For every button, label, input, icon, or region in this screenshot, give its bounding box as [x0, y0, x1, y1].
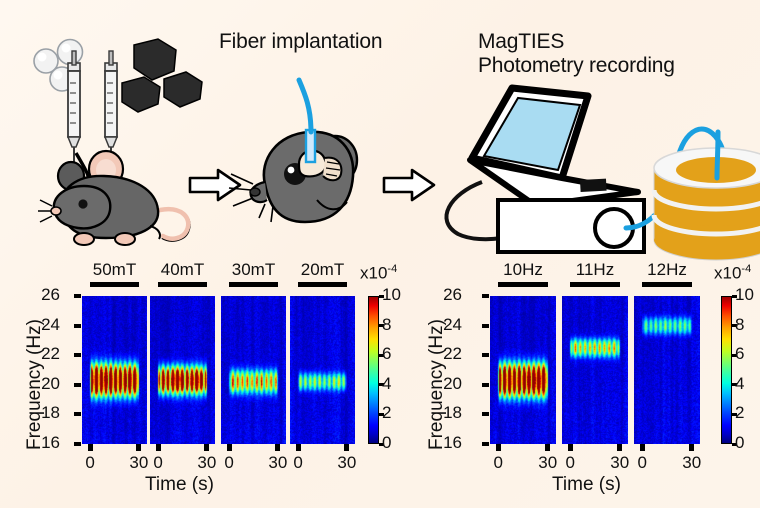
subpanel-condition-label: 50mT [82, 260, 147, 280]
ferrule-icon [306, 130, 315, 162]
x-tick-label: 0 [556, 453, 584, 473]
y-tick-mark [482, 442, 489, 446]
x-tick-mark [136, 444, 141, 451]
x-tick-mark [640, 444, 645, 451]
frequency-spectrogram-panel: Frequency (Hz) Time (s) x10-4 1618202224… [400, 260, 760, 508]
y-tick-mark [74, 294, 81, 298]
x-tick-mark [545, 444, 550, 451]
y-tick-mark [74, 383, 81, 387]
optic-fiber-icon [717, 132, 718, 178]
colorbar [368, 296, 379, 444]
subpanel-condition-label: 20mT [290, 260, 355, 280]
colorbar-exponent-label: x10-4 [714, 263, 751, 284]
y-tick-label: 26 [436, 285, 462, 305]
spectrogram-heatmap [150, 296, 215, 444]
x-tick-label: 0 [144, 453, 172, 473]
stimulus-bar [298, 282, 347, 287]
schematic-title-fiber-implantation: Fiber implantation [219, 30, 382, 54]
laptop-icon [470, 88, 638, 206]
magnetic-coil-icon [654, 148, 760, 260]
x-tick-mark [568, 444, 573, 451]
colorbar-tick-label: 10 [735, 285, 754, 305]
stimulus-bar [158, 282, 207, 287]
x-tick-mark [344, 444, 349, 451]
x-tick-label: 0 [215, 453, 243, 473]
schematic-title-magties: MagTIES [478, 30, 564, 54]
y-tick-label: 22 [34, 344, 60, 364]
spectrogram-heatmap [290, 296, 355, 444]
x-tick-mark [496, 444, 501, 451]
x-tick-label: 30 [678, 453, 706, 473]
mouse-icon [42, 148, 202, 248]
y-tick-mark [482, 412, 489, 416]
colorbar-tick-label: 10 [382, 285, 401, 305]
subpanel-condition-label: 30mT [221, 260, 286, 280]
x-tick-label: 0 [484, 453, 512, 473]
colorbar-tick-label: 4 [382, 374, 391, 394]
colorbar-tick-label: 6 [382, 344, 391, 364]
recording-setup-graphic [440, 72, 750, 252]
y-tick-mark [482, 324, 489, 328]
subpanel-condition-label: 40mT [150, 260, 215, 280]
colorbar-tick-label: 0 [735, 433, 744, 453]
y-tick-label: 16 [34, 433, 60, 453]
spectrogram-heatmap [82, 296, 147, 444]
x-tick-mark [227, 444, 232, 451]
y-tick-label: 22 [436, 344, 462, 364]
x-tick-label: 30 [333, 453, 361, 473]
x-tick-mark [689, 444, 694, 451]
y-tick-mark [74, 324, 81, 328]
arrow-right-icon [382, 168, 438, 202]
y-tick-mark [74, 442, 81, 446]
colorbar-tick-label: 8 [735, 315, 744, 335]
y-tick-mark [482, 383, 489, 387]
colorbar-tick-label: 2 [382, 403, 391, 423]
y-tick-label: 26 [34, 285, 60, 305]
y-tick-label: 24 [34, 315, 60, 335]
x-tick-label: 0 [628, 453, 656, 473]
spectrogram-heatmap [490, 296, 556, 444]
stimulus-bar [229, 282, 278, 287]
colorbar-tick-label: 2 [735, 403, 744, 423]
subpanel-condition-label: 12Hz [634, 260, 700, 280]
y-tick-label: 18 [34, 403, 60, 423]
colorbar-tick-label: 6 [735, 344, 744, 364]
x-tick-label: 0 [284, 453, 312, 473]
driver-box-icon [498, 200, 644, 252]
x-tick-mark [88, 444, 93, 451]
stimulus-bar [498, 282, 548, 287]
colorbar-tick-label: 4 [735, 374, 744, 394]
stimulus-bar [642, 282, 692, 287]
y-tick-mark [74, 412, 81, 416]
stimulus-bar [90, 282, 139, 287]
optic-fiber-icon [299, 80, 311, 132]
subpanel-condition-label: 11Hz [562, 260, 628, 280]
y-tick-label: 20 [34, 374, 60, 394]
colorbar-tick-label: 8 [382, 315, 391, 335]
y-tick-mark [74, 353, 81, 357]
y-tick-label: 18 [436, 403, 462, 423]
x-axis-label: Time (s) [552, 474, 621, 496]
spectrogram-heatmap [562, 296, 628, 444]
colorbar-tick-label: 0 [382, 433, 391, 453]
arrow-right-icon [188, 168, 244, 202]
mouse-head-with-fiber-icon [243, 72, 371, 232]
spectrogram-heatmap [634, 296, 700, 444]
x-tick-mark [275, 444, 280, 451]
y-tick-label: 20 [436, 374, 462, 394]
x-tick-label: 0 [76, 453, 104, 473]
power-cable-icon [446, 182, 502, 239]
subpanel-condition-label: 10Hz [490, 260, 556, 280]
x-tick-mark [156, 444, 161, 451]
spectrogram-heatmap [221, 296, 286, 444]
nanoparticle-icon [122, 39, 202, 112]
x-tick-mark [617, 444, 622, 451]
x-axis-label: Time (s) [145, 474, 214, 496]
y-tick-mark [482, 294, 489, 298]
y-tick-label: 24 [436, 315, 462, 335]
y-tick-label: 16 [436, 433, 462, 453]
stimulus-bar [570, 282, 620, 287]
figure-canvas: Fiber implantation MagTIES Photometry re… [0, 0, 760, 508]
colorbar [721, 296, 732, 444]
colorbar-exponent-label: x10-4 [360, 263, 397, 284]
intensity-spectrogram-panel: Frequency (Hz) Time (s) x10-4 1618202224… [0, 260, 400, 508]
x-tick-mark [296, 444, 301, 451]
x-tick-mark [204, 444, 209, 451]
y-tick-mark [482, 353, 489, 357]
